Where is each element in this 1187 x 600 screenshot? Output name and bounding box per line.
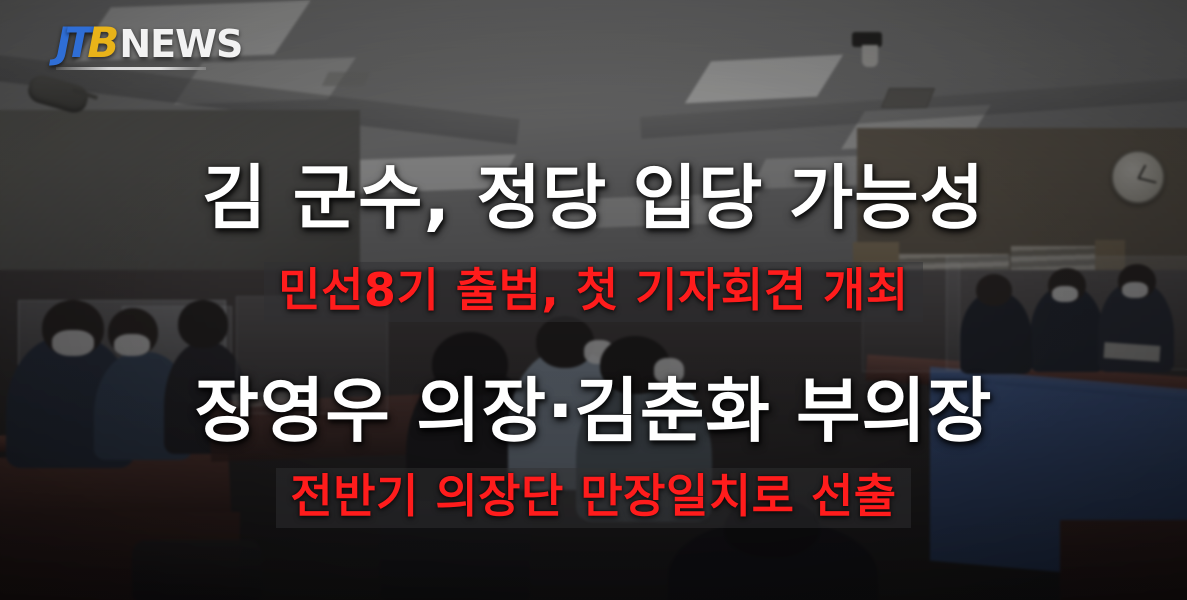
story-1-headline: 김 군수, 정당 입당 가능성 bbox=[0, 163, 1187, 233]
broadcast-frame: J T B NEWS 김 군수, 정당 입당 가능성 민선8기 출범, 첫 기자… bbox=[0, 0, 1187, 600]
logo-underline bbox=[56, 67, 206, 70]
story-1-subtitle: 민선8기 출범, 첫 기자회견 개최 bbox=[264, 262, 922, 322]
story-2-subtitle: 전반기 의장단 만장일치로 선출 bbox=[276, 468, 910, 528]
story-1-subtitle-row: 민선8기 출범, 첫 기자회견 개최 bbox=[0, 262, 1187, 322]
logo-letter-b: B bbox=[87, 22, 117, 64]
channel-logo: J T B NEWS bbox=[56, 22, 242, 70]
story-2-headline: 장영우 의장·김춘화 부의장 bbox=[0, 376, 1187, 446]
channel-logo-wordmark: J T B NEWS bbox=[56, 22, 242, 64]
lower-third: 김 군수, 정당 입당 가능성 민선8기 출범, 첫 기자회견 개최 장영우 의… bbox=[0, 0, 1187, 600]
story-2-subtitle-row: 전반기 의장단 만장일치로 선출 bbox=[0, 468, 1187, 528]
logo-word-news: NEWS bbox=[119, 25, 242, 63]
